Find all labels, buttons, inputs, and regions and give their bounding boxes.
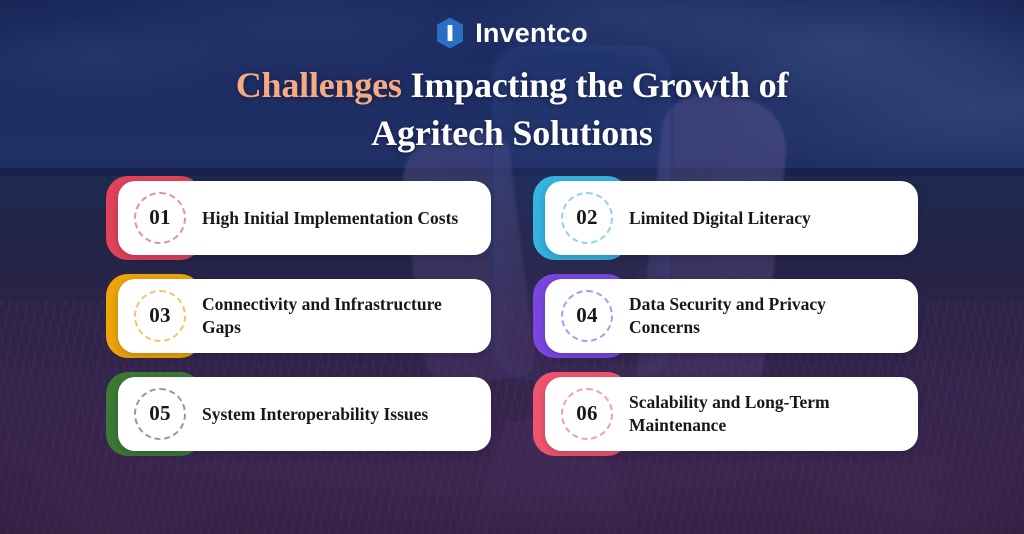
page-title-line-2: Agritech Solutions <box>0 110 1024 158</box>
brand-name: Inventco <box>475 18 588 49</box>
challenge-card-grid: 01 High Initial Implementation Costs 02 … <box>106 176 918 456</box>
card-number-badge: 01 <box>134 192 186 244</box>
card-body: 04 Data Security and Privacy Concerns <box>545 279 918 353</box>
page-title-accent-word: Challenges <box>236 65 402 105</box>
hexagon-i-logo-icon <box>436 17 464 49</box>
challenge-card-01[interactable]: 01 High Initial Implementation Costs <box>106 176 491 260</box>
card-label: Connectivity and Infrastructure Gaps <box>202 293 470 338</box>
content-root: Inventco Challenges Impacting the Growth… <box>0 0 1024 456</box>
page-title-line-1: Challenges Impacting the Growth of <box>0 62 1024 110</box>
page-title: Challenges Impacting the Growth of Agrit… <box>0 62 1024 158</box>
card-number-badge: 03 <box>134 290 186 342</box>
challenge-card-02[interactable]: 02 Limited Digital Literacy <box>533 176 918 260</box>
card-body: 06 Scalability and Long-Term Maintenance <box>545 377 918 451</box>
challenge-card-04[interactable]: 04 Data Security and Privacy Concerns <box>533 274 918 358</box>
card-body: 05 System Interoperability Issues <box>118 377 491 451</box>
challenge-card-03[interactable]: 03 Connectivity and Infrastructure Gaps <box>106 274 491 358</box>
challenge-card-06[interactable]: 06 Scalability and Long-Term Maintenance <box>533 372 918 456</box>
card-body: 02 Limited Digital Literacy <box>545 181 918 255</box>
card-label: Data Security and Privacy Concerns <box>629 293 897 338</box>
card-number-badge: 04 <box>561 290 613 342</box>
page-title-line-1-rest: Impacting the Growth of <box>402 65 789 105</box>
challenge-card-05[interactable]: 05 System Interoperability Issues <box>106 372 491 456</box>
card-label: Limited Digital Literacy <box>629 207 811 229</box>
card-label: Scalability and Long-Term Maintenance <box>629 391 897 436</box>
card-number-badge: 02 <box>561 192 613 244</box>
infographic-canvas: Inventco Challenges Impacting the Growth… <box>0 0 1024 534</box>
brand-logo: Inventco <box>0 0 1024 44</box>
card-body: 01 High Initial Implementation Costs <box>118 181 491 255</box>
card-number-badge: 05 <box>134 388 186 440</box>
card-label: High Initial Implementation Costs <box>202 207 458 229</box>
card-label: System Interoperability Issues <box>202 403 428 425</box>
card-number-badge: 06 <box>561 388 613 440</box>
card-body: 03 Connectivity and Infrastructure Gaps <box>118 279 491 353</box>
